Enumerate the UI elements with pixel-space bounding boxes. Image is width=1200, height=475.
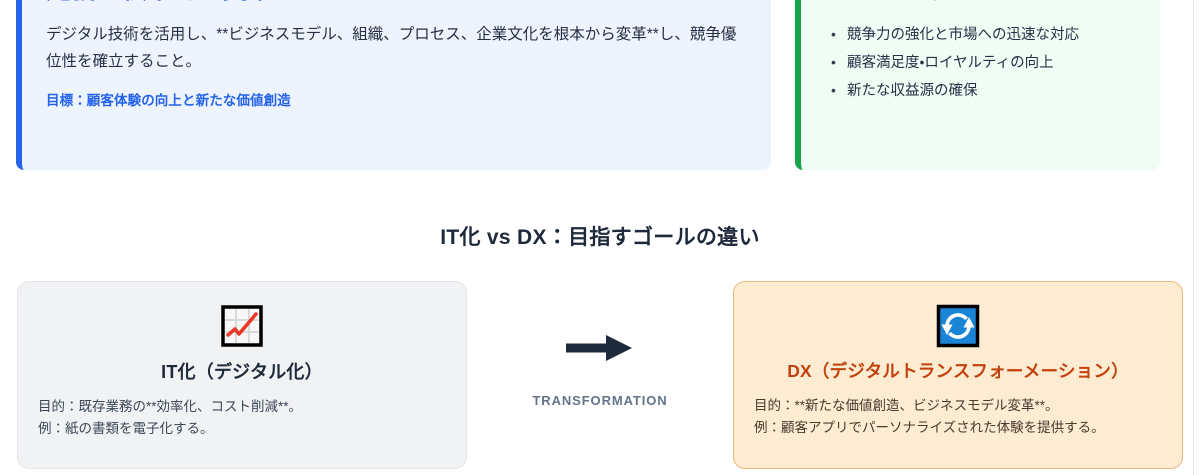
list-item: 競争力の強化と市場への迅速な対応 [847, 21, 1136, 49]
callout-definition-title: 定義：根本的な変革 [46, 0, 747, 7]
comparison-card-it: IT化（デジタル化） 目的：既存業務の**効率化、コスト削減**。 例：紙の書類… [17, 281, 467, 469]
comparison-heading: IT化 vs DX：目指すゴールの違い [0, 221, 1200, 251]
right-arrow-icon [564, 333, 636, 367]
callout-definition-body: デジタル技術を活用し、**ビジネスモデル、組織、プロセス、企業文化を根本から変革… [46, 21, 747, 75]
comparison-card-dx: DX（デジタルトランスフォーメーション） 目的：**新たな価値創造、ビジネスモデ… [733, 281, 1183, 469]
comparison-it-description: 目的：既存業務の**効率化、コスト削減**。 例：紙の書類を電子化する。 [38, 396, 302, 441]
comparison-dx-description: 目的：**新たな価値創造、ビジネスモデル変革**。 例：顧客アプリでパーソナライ… [754, 395, 1105, 440]
counterclockwise-arrows-icon [936, 304, 980, 348]
list-item: 新たな収益源の確保 [847, 77, 1136, 105]
callout-card-definition: 定義：根本的な変革 デジタル技術を活用し、**ビジネスモデル、組織、プロセス、企… [16, 0, 771, 170]
transformation-connector: TRANSFORMATION [467, 281, 733, 469]
comparison-it-example: 例：紙の書類を電子化する。 [38, 418, 302, 440]
comparison-it-title: IT化（デジタル化） [161, 358, 323, 384]
callout-row: 定義：根本的な変革 デジタル技術を活用し、**ビジネスモデル、組織、プロセス、企… [0, 0, 1200, 170]
comparison-it-purpose: 目的：既存業務の**効率化、コスト削減**。 [38, 396, 302, 418]
callout-card-benefits: 主なメリット 競争力の強化と市場への迅速な対応 顧客満足度・ロイヤルティの向上 … [795, 0, 1160, 170]
list-item: 顧客満足度・ロイヤルティの向上 [847, 49, 1136, 77]
benefits-list: 競争力の強化と市場への迅速な対応 顧客満足度・ロイヤルティの向上 新たな収益源の… [825, 21, 1136, 106]
chart-increasing-icon [220, 304, 264, 348]
comparison-dx-purpose: 目的：**新たな価値創造、ビジネスモデル変革**。 [754, 395, 1105, 417]
comparison-dx-title: DX（デジタルトランスフォーメーション） [787, 358, 1129, 383]
comparison-row: IT化（デジタル化） 目的：既存業務の**効率化、コスト削減**。 例：紙の書類… [0, 281, 1200, 469]
callout-definition-goal: 目標：顧客体験の向上と新たな価値創造 [46, 89, 747, 109]
transformation-label: TRANSFORMATION [532, 393, 667, 408]
callout-benefits-title: 主なメリット [825, 0, 1136, 7]
comparison-dx-example: 例：顧客アプリでパーソナライズされた体験を提供する。 [754, 417, 1105, 439]
